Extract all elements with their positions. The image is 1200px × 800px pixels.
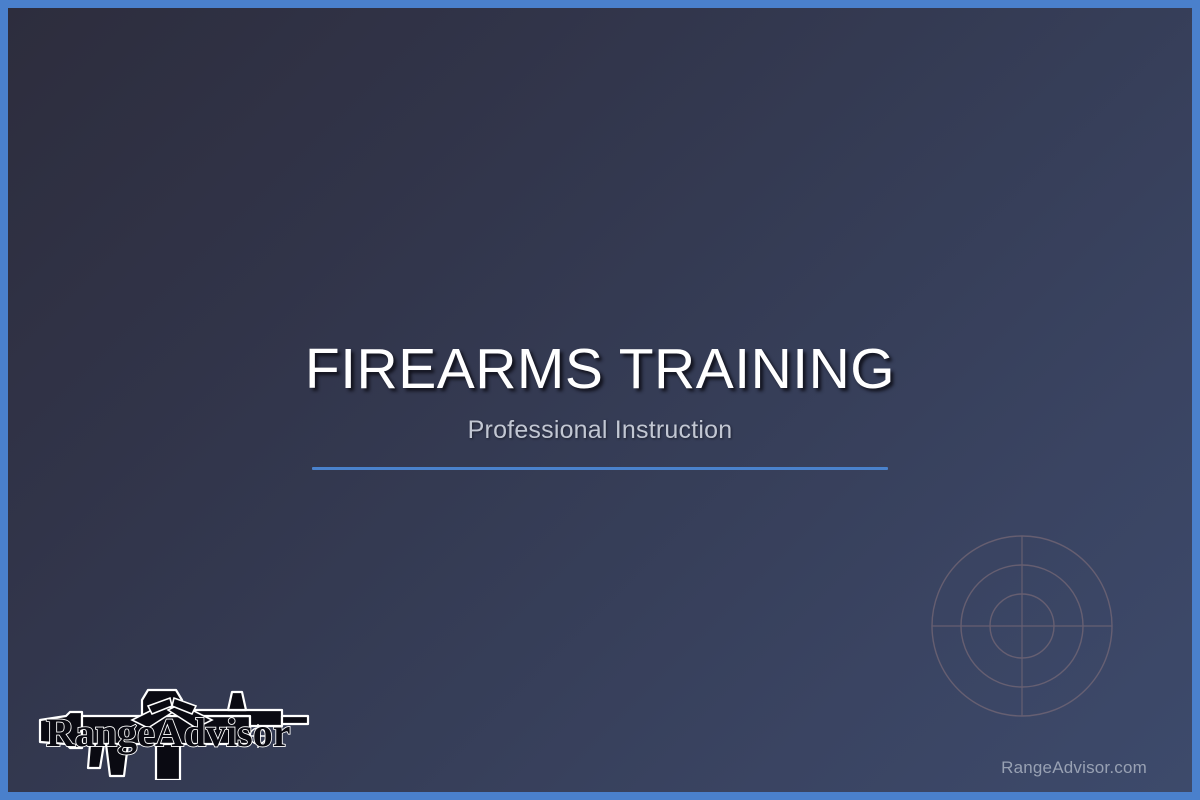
title-block: FIREARMS TRAINING Professional Instructi… [8,340,1192,470]
presentation-slide: FIREARMS TRAINING Professional Instructi… [0,0,1200,800]
slide-canvas: FIREARMS TRAINING Professional Instructi… [8,8,1192,792]
page-title: FIREARMS TRAINING [8,340,1192,398]
crosshair-target-icon [914,518,1130,734]
rifle-logo-icon: RangeAdvisor [36,676,314,780]
logo-wordmark: RangeAdvisor [46,710,290,755]
page-subtitle: Professional Instruction [8,416,1192,445]
footer-url: RangeAdvisor.com [1001,758,1147,778]
accent-divider [312,467,888,470]
